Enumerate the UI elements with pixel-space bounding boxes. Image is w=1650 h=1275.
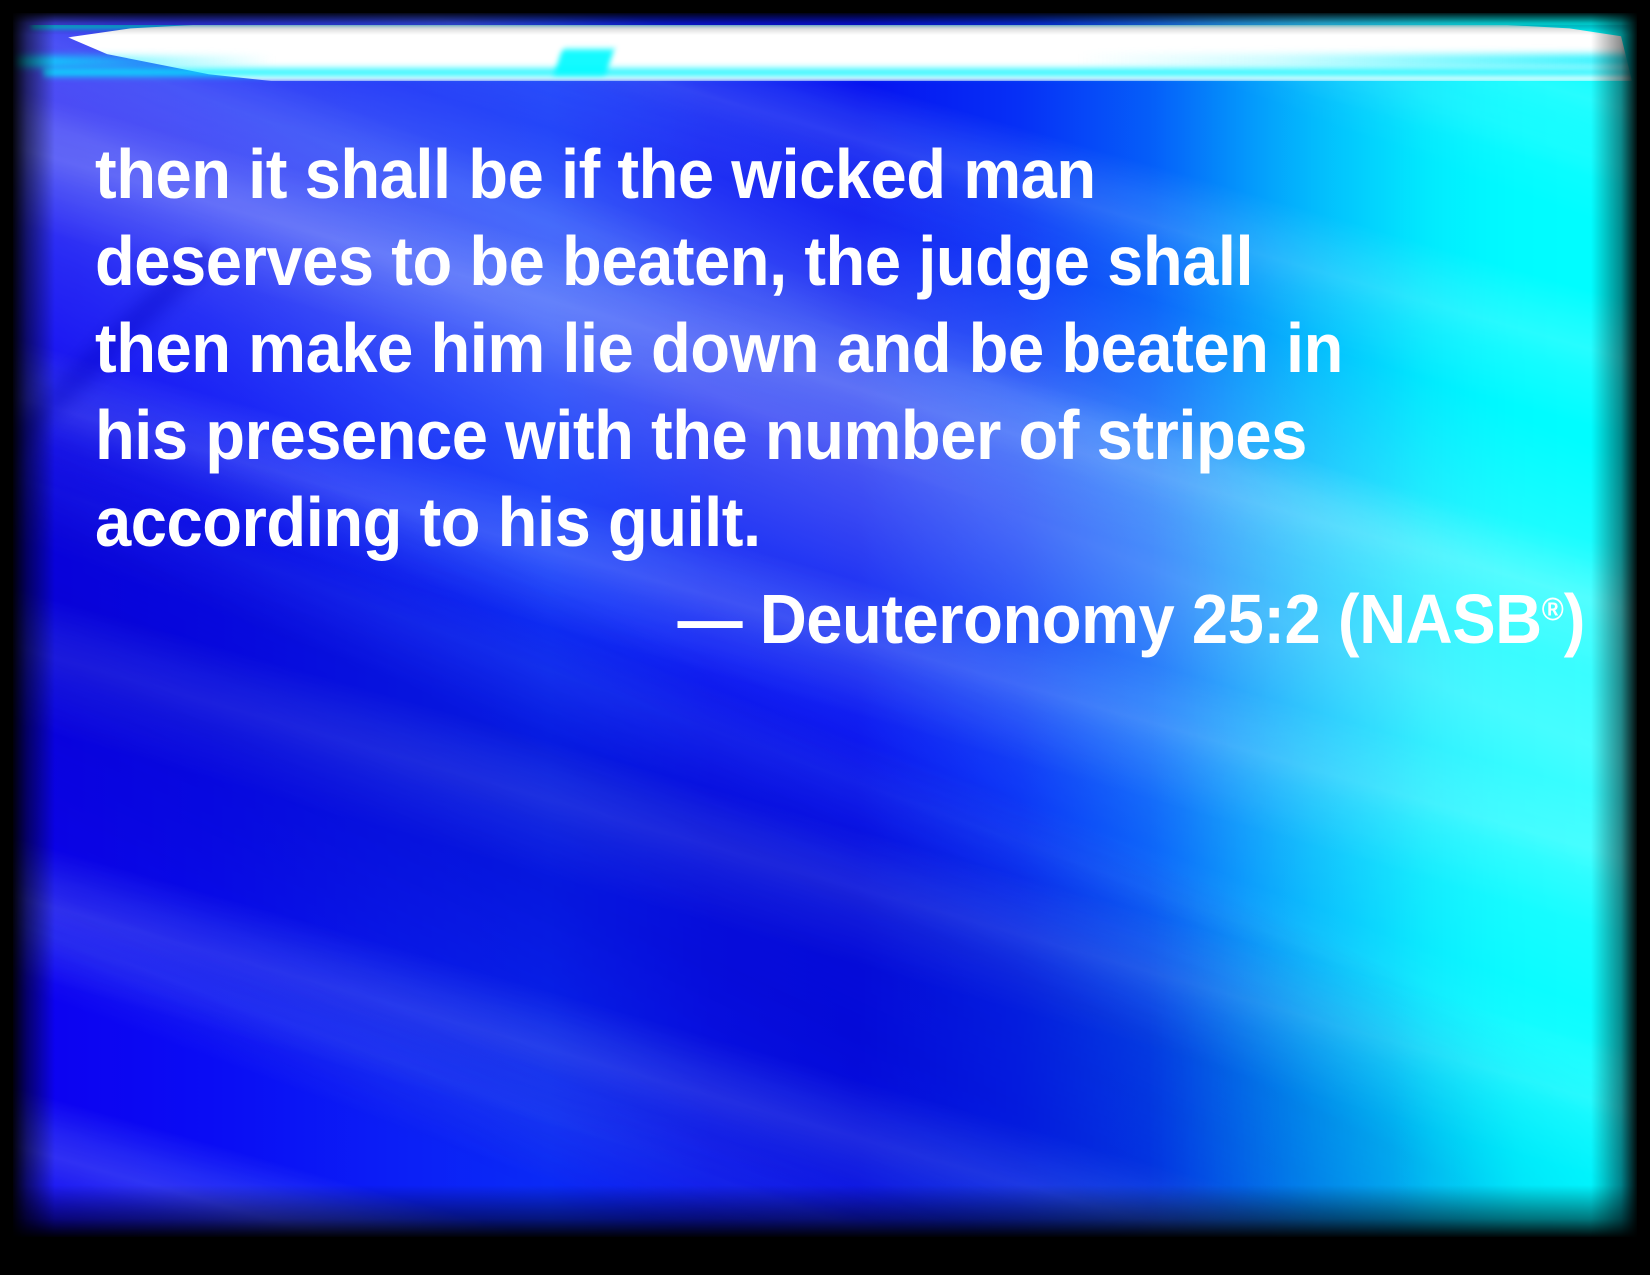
top-cyan-rim (31, 25, 1629, 29)
bible-verse-slide: then it shall be if the wicked man deser… (0, 0, 1650, 1275)
cyan-wisp-right (1077, 54, 1637, 67)
attribution-version-close: ) (1564, 580, 1585, 658)
verse-line-5: according to his guilt. (95, 479, 1481, 566)
verse-text-block: then it shall be if the wicked man deser… (95, 131, 1585, 663)
slide-artwork-panel: then it shall be if the wicked man deser… (13, 13, 1637, 1237)
white-highlight-slab (68, 25, 1632, 81)
verse-line-2: deserves to be beaten, the judge shall (95, 218, 1481, 305)
cyan-underline-streak (43, 65, 1637, 79)
attribution-dash: — (677, 580, 742, 658)
attribution-book: Deuteronomy (760, 580, 1174, 658)
cyan-wisp-left (13, 56, 273, 67)
top-white-highlight-band (13, 25, 1637, 87)
verse-line-3: then make him lie down and be beaten in (95, 305, 1481, 392)
registered-trademark-icon: ® (1542, 591, 1564, 627)
verse-line-4: his presence with the number of stripes (95, 392, 1481, 479)
cyan-nub-highlight (554, 49, 614, 75)
attribution-version-open: (NASB (1338, 580, 1542, 658)
verse-line-1: then it shall be if the wicked man (95, 131, 1481, 218)
verse-attribution: — Deuteronomy 25:2 (NASB®) (199, 566, 1585, 663)
attribution-reference: 25:2 (1192, 580, 1320, 658)
